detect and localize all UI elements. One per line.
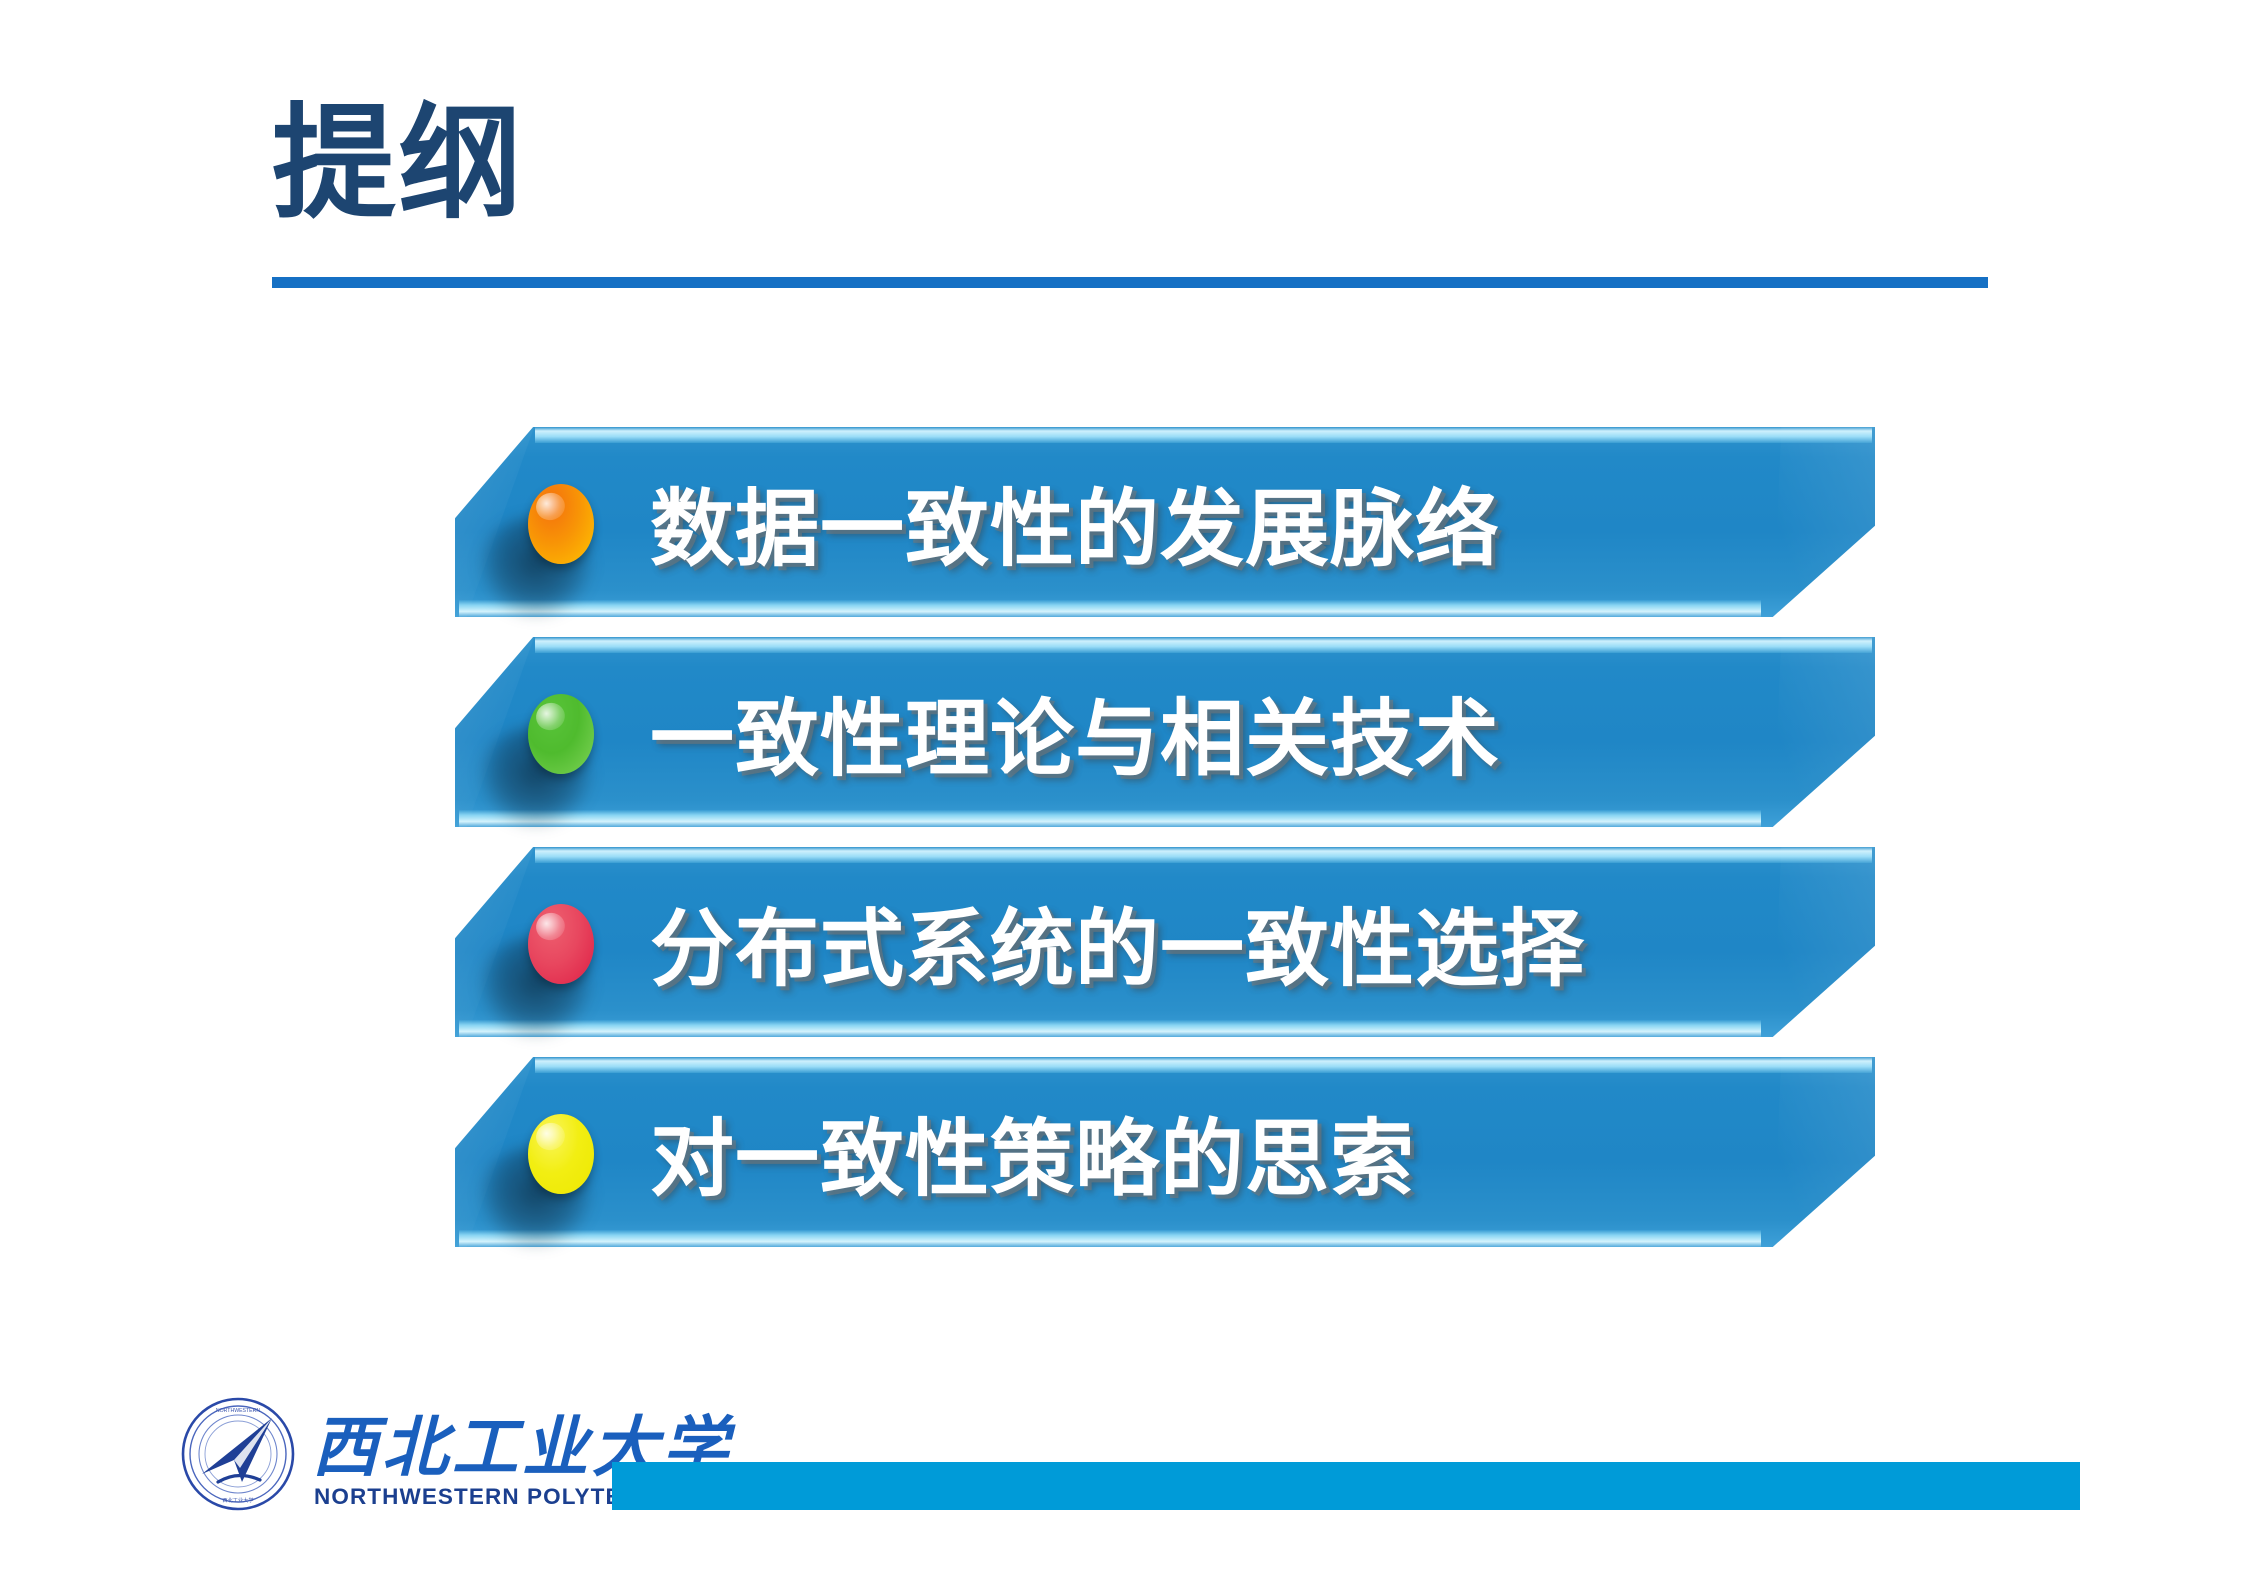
outline-banner-item-2[interactable]: 一致性理论与相关技术 bbox=[455, 637, 1875, 827]
presentation-slide: 提纲 数据一致性的发展脉络 一致性理论与相关技术 bbox=[0, 0, 2245, 1587]
orange-sphere-bullet bbox=[528, 484, 594, 564]
outline-banner-item-4[interactable]: 对一致性策略的思索 bbox=[455, 1057, 1875, 1247]
red-sphere-bullet bbox=[528, 904, 594, 984]
outline-banner-list: 数据一致性的发展脉络 一致性理论与相关技术 分布式系统的一致性选择 bbox=[0, 0, 2245, 1587]
footer-accent-bar bbox=[612, 1462, 2080, 1510]
university-logo: NORTHWESTERN 西北工业大学 西北工业大学 NORTHWESTERN … bbox=[180, 1388, 610, 1523]
outline-banner-label: 分布式系统的一致性选择 bbox=[650, 847, 1585, 1037]
green-sphere-bullet bbox=[528, 694, 594, 774]
outline-banner-label: 对一致性策略的思索 bbox=[650, 1057, 1415, 1247]
outline-banner-label: 一致性理论与相关技术 bbox=[650, 637, 1500, 827]
svg-text:西北工业大学: 西北工业大学 bbox=[222, 1496, 253, 1504]
outline-banner-item-1[interactable]: 数据一致性的发展脉络 bbox=[455, 427, 1875, 617]
nwpu-seal-icon: NORTHWESTERN 西北工业大学 bbox=[180, 1396, 296, 1512]
outline-banner-item-3[interactable]: 分布式系统的一致性选择 bbox=[455, 847, 1875, 1037]
outline-banner-label: 数据一致性的发展脉络 bbox=[650, 427, 1500, 617]
yellow-sphere-bullet bbox=[528, 1114, 594, 1194]
svg-text:NORTHWESTERN: NORTHWESTERN bbox=[216, 1408, 261, 1414]
